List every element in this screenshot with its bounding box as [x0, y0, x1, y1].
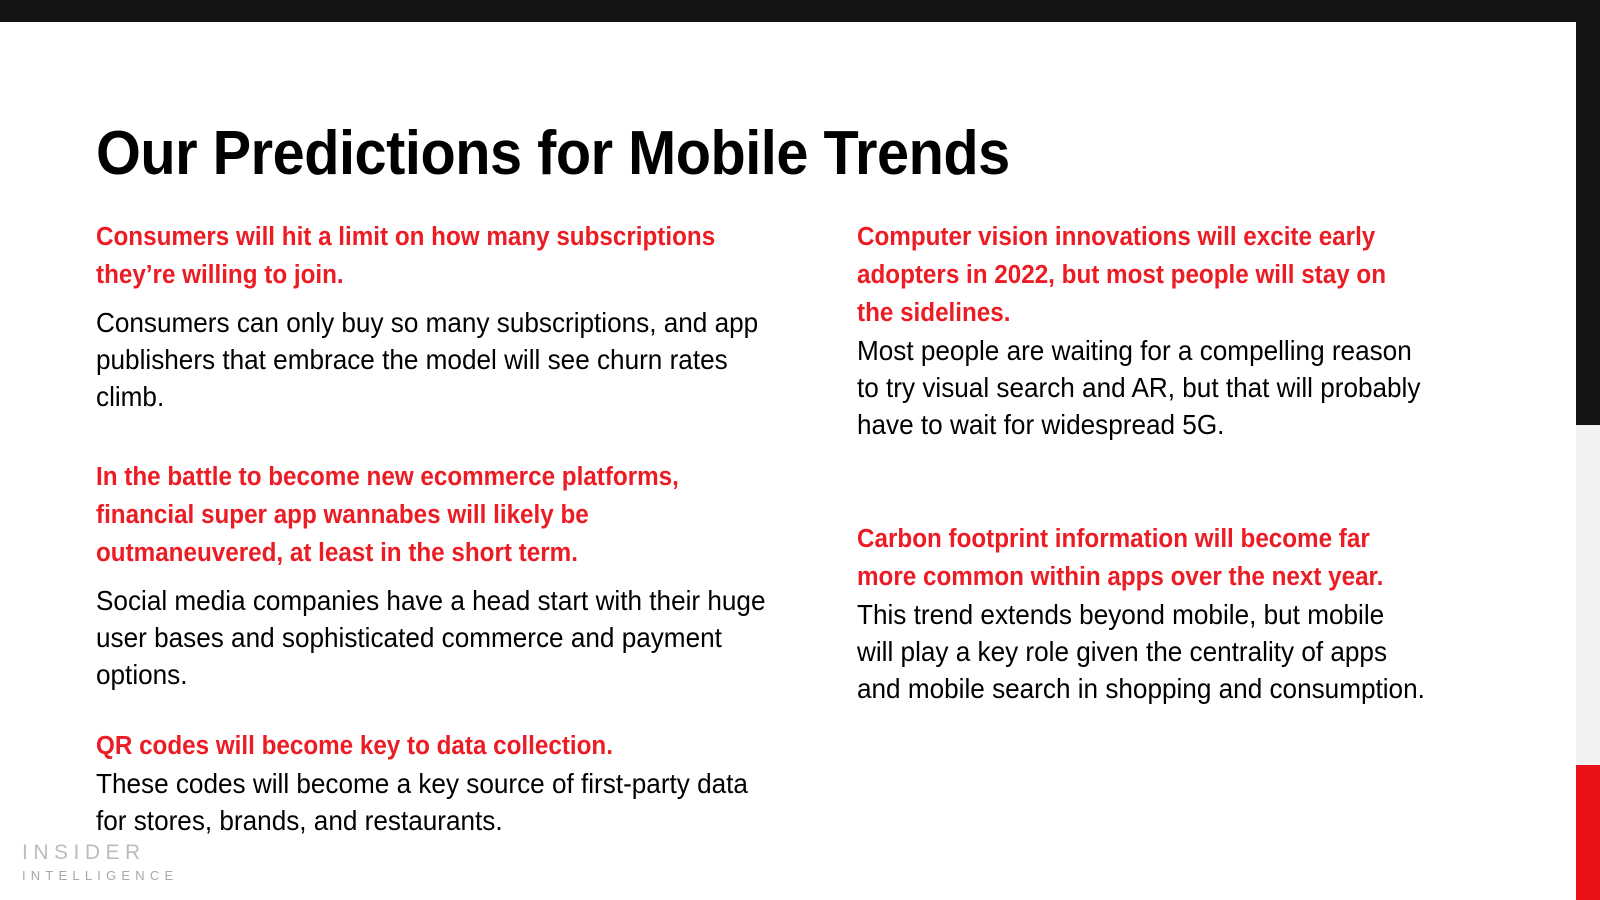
prediction-heading: Carbon footprint information will become… — [857, 520, 1427, 596]
spacer — [96, 294, 818, 304]
chrome-dark-panel — [1576, 22, 1600, 425]
prediction-body: Most people are waiting for a compelling… — [857, 332, 1427, 443]
prediction-body: Social media companies have a head start… — [96, 582, 782, 693]
prediction-heading: In the battle to become new ecommerce pl… — [96, 458, 782, 572]
logo-secondary-text: INTELLIGENCE — [22, 869, 178, 882]
slide-canvas: Our Predictions for Mobile Trends Consum… — [0, 22, 1576, 900]
window-right-chrome — [1576, 22, 1600, 900]
prediction-body: Consumers can only buy so many subscript… — [96, 304, 782, 415]
prediction-block: QR codes will become key to data collect… — [96, 727, 818, 839]
spacer — [857, 443, 1457, 486]
prediction-heading: Computer vision innovations will excite … — [857, 218, 1427, 332]
column-left: Consumers will hit a limit on how many s… — [96, 218, 818, 839]
prediction-body: These codes will become a key source of … — [96, 765, 782, 839]
column-right: Computer vision innovations will excite … — [857, 218, 1457, 707]
spacer — [96, 415, 818, 458]
prediction-block: Computer vision innovations will excite … — [857, 218, 1457, 443]
logo-primary-text: INSIDER — [22, 842, 178, 863]
spacer — [96, 693, 818, 727]
spacer — [857, 486, 1457, 520]
page-title: Our Predictions for Mobile Trends — [96, 123, 1010, 185]
scrollbar-thumb[interactable] — [1576, 765, 1600, 900]
insider-intelligence-logo: INSIDER INTELLIGENCE — [22, 842, 178, 882]
window-titlebar — [0, 0, 1600, 22]
prediction-heading: QR codes will become key to data collect… — [96, 727, 782, 765]
prediction-heading: Consumers will hit a limit on how many s… — [96, 218, 782, 294]
spacer — [96, 572, 818, 582]
prediction-block: In the battle to become new ecommerce pl… — [96, 458, 818, 693]
scrollbar-track[interactable] — [1576, 425, 1600, 765]
prediction-block: Consumers will hit a limit on how many s… — [96, 218, 818, 415]
prediction-block: Carbon footprint information will become… — [857, 520, 1457, 707]
prediction-body: This trend extends beyond mobile, but mo… — [857, 596, 1427, 707]
